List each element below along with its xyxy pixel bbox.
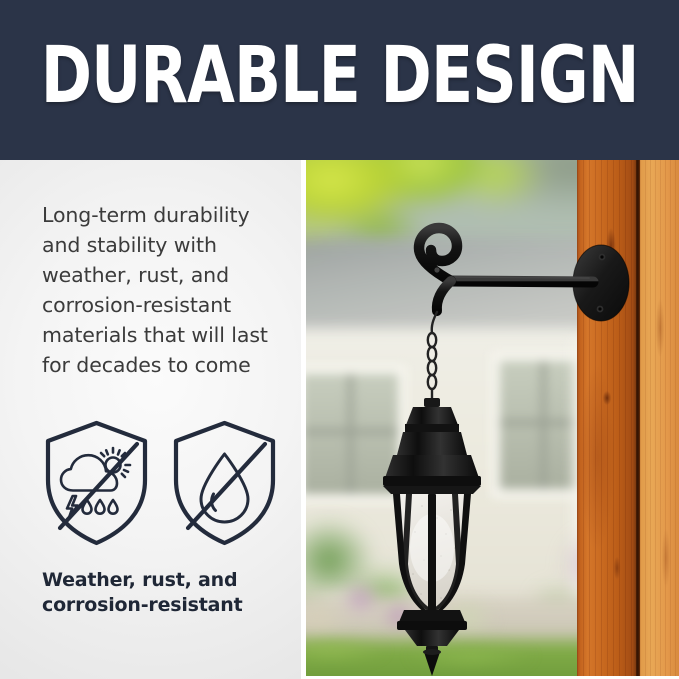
product-photo — [301, 160, 679, 679]
photo-left-border — [301, 160, 306, 679]
header-bar: DURABLE DESIGN — [0, 0, 679, 160]
icon-caption-line: corrosion-resistant — [42, 593, 292, 618]
wooden-post — [577, 160, 679, 679]
left-content-panel: Long-term durability and stability with … — [0, 160, 301, 679]
durable-design-feature-card: DURABLE DESIGN Long-term durability and … — [0, 0, 679, 679]
post-front-face — [577, 160, 636, 679]
photo-scene — [301, 160, 679, 679]
post-side-face — [640, 160, 679, 679]
page-title: DURABLE DESIGN — [41, 36, 639, 116]
body-copy-line: Long-term durability — [42, 200, 286, 230]
post-wood-grain — [577, 160, 636, 679]
post-wood-grain — [640, 160, 679, 679]
no-water-shield-icon — [168, 418, 281, 548]
body-copy-line: weather, rust, and — [42, 260, 286, 290]
no-weather-shield-icon — [40, 418, 153, 548]
body-copy-line: corrosion-resistant — [42, 290, 286, 320]
body-copy-line: and stability with — [42, 230, 286, 260]
feature-icon-row — [40, 418, 290, 548]
body-copy-line: materials that will last — [42, 320, 286, 350]
house-window — [301, 365, 407, 503]
body-copy-line: for decades to come — [42, 350, 286, 380]
body-copy: Long-term durability and stability with … — [42, 200, 286, 380]
icon-caption: Weather, rust, and corrosion-resistant — [42, 568, 292, 618]
window-panes — [302, 374, 398, 494]
icon-caption-line: Weather, rust, and — [42, 568, 292, 593]
